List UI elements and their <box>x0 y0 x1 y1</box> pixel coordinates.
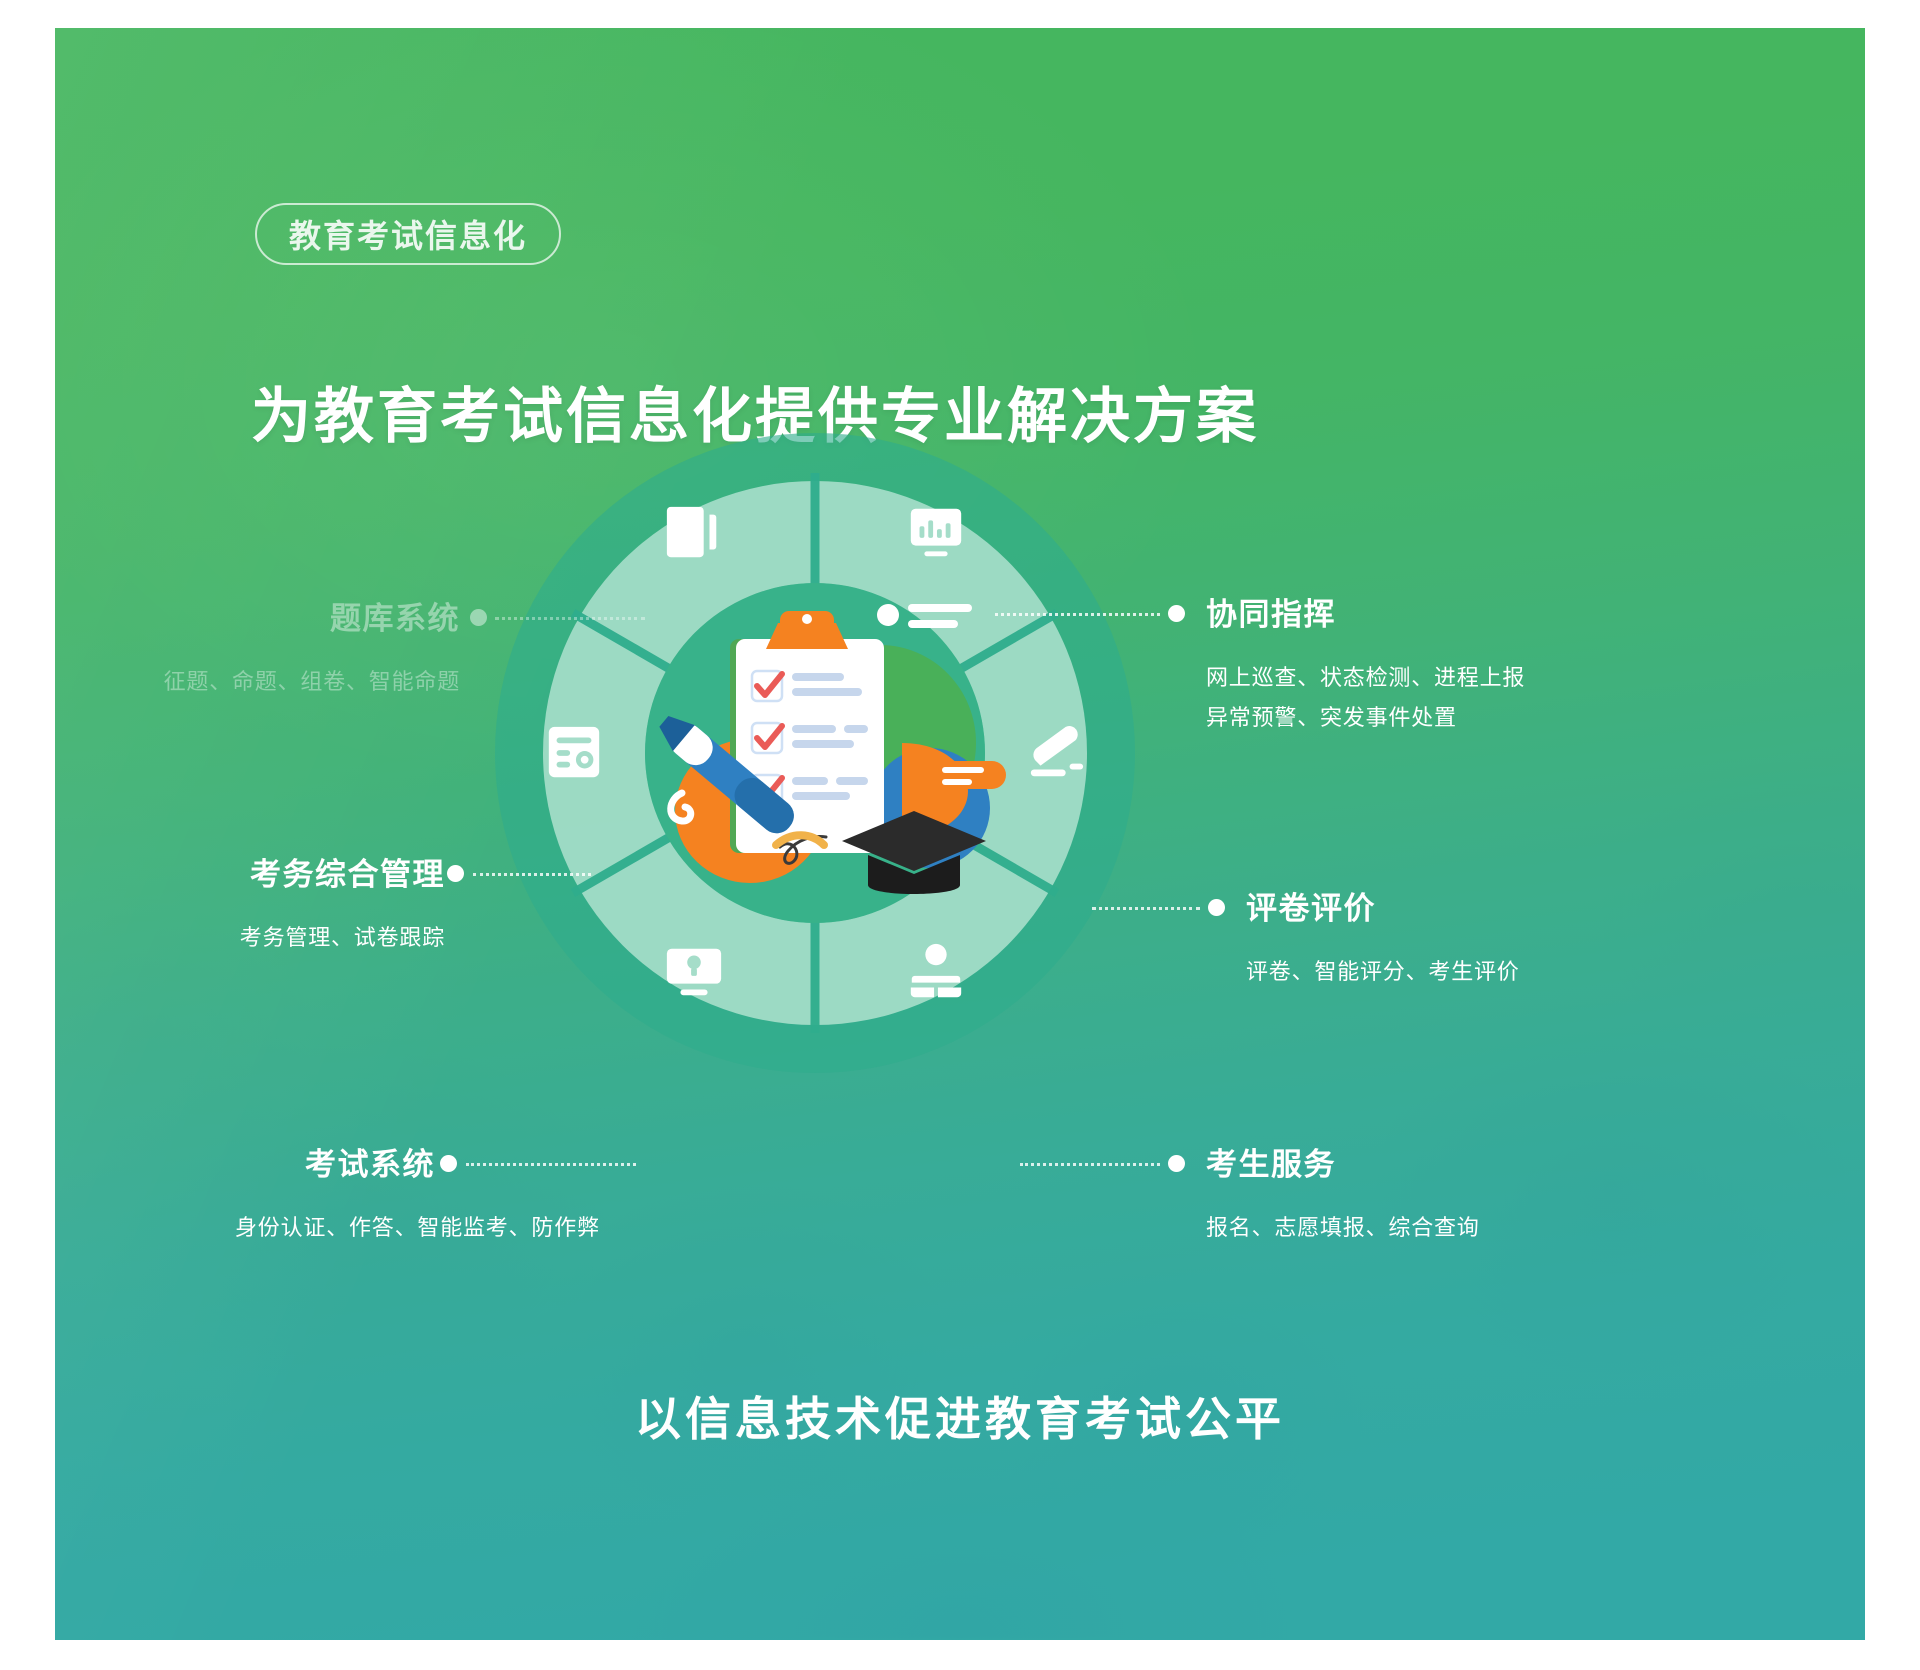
callout-dot <box>1208 899 1225 916</box>
callout-dot <box>1168 605 1185 622</box>
callout-title: 协同指挥 <box>1206 596 1336 633</box>
callout-dot <box>447 865 464 882</box>
category-badge: 教育考试信息化 <box>255 203 561 265</box>
callout-title: 考务综合管理 <box>250 856 445 893</box>
callout-title: 评卷评价 <box>1246 890 1376 927</box>
callout-leader-line <box>495 617 645 620</box>
callout-description: 征题、命题、组卷、智能命题 <box>164 665 460 699</box>
callout-dot <box>440 1155 457 1172</box>
callout-leader-line <box>1092 907 1200 910</box>
callout-description: 身份认证、作答、智能监考、防作弊 <box>235 1211 600 1245</box>
callout-leader-line <box>1020 1163 1160 1166</box>
callout-description-line2: 异常预警、突发事件处置 <box>1206 701 1457 735</box>
callout-title: 考生服务 <box>1206 1146 1336 1183</box>
callout-description: 考务管理、试卷跟踪 <box>240 921 445 955</box>
callout-dot <box>1168 1155 1185 1172</box>
callout-description-line1: 网上巡查、状态检测、进程上报 <box>1206 661 1525 695</box>
callout-description-line1: 评卷、智能评分、考生评价 <box>1246 955 1520 989</box>
callout-kaoshi-xitong[interactable]: 考试系统 身份认证、作答、智能监考、防作弊 <box>175 1146 645 1186</box>
callout-leader-line <box>995 613 1160 616</box>
category-badge-label: 教育考试信息化 <box>289 211 527 257</box>
callout-leader-line <box>473 873 591 876</box>
callout-title: 考试系统 <box>305 1146 435 1183</box>
callout-xietong-zhihui[interactable]: 协同指挥 网上巡查、状态检测、进程上报 异常预警、突发事件处置 <box>1180 596 1700 636</box>
callout-title: 题库系统 <box>330 600 460 637</box>
callout-kaosheng-fuwu[interactable]: 考生服务 报名、志愿填报、综合查询 <box>1180 1146 1700 1186</box>
footer-tagline: 以信息技术促进教育考试公平 <box>55 1383 1865 1449</box>
callout-description-line1: 报名、志愿填报、综合查询 <box>1206 1211 1480 1245</box>
callout-kaowu-zonghe-guanli[interactable]: 考务综合管理 考务管理、试卷跟踪 <box>155 856 625 896</box>
callout-pingjuan-pingjia[interactable]: 评卷评价 评卷、智能评分、考生评价 <box>1220 890 1740 930</box>
promo-banner: 教育考试信息化 为教育考试信息化提供专业解决方案 以信息技术促进教育考试公平 <box>55 28 1865 1640</box>
callout-leader-line <box>466 1163 636 1166</box>
callout-tiku-xitong[interactable]: 题库系统 征题、命题、组卷、智能命题 <box>195 600 625 640</box>
callout-dot <box>470 609 487 626</box>
center-illustration <box>630 593 1010 923</box>
